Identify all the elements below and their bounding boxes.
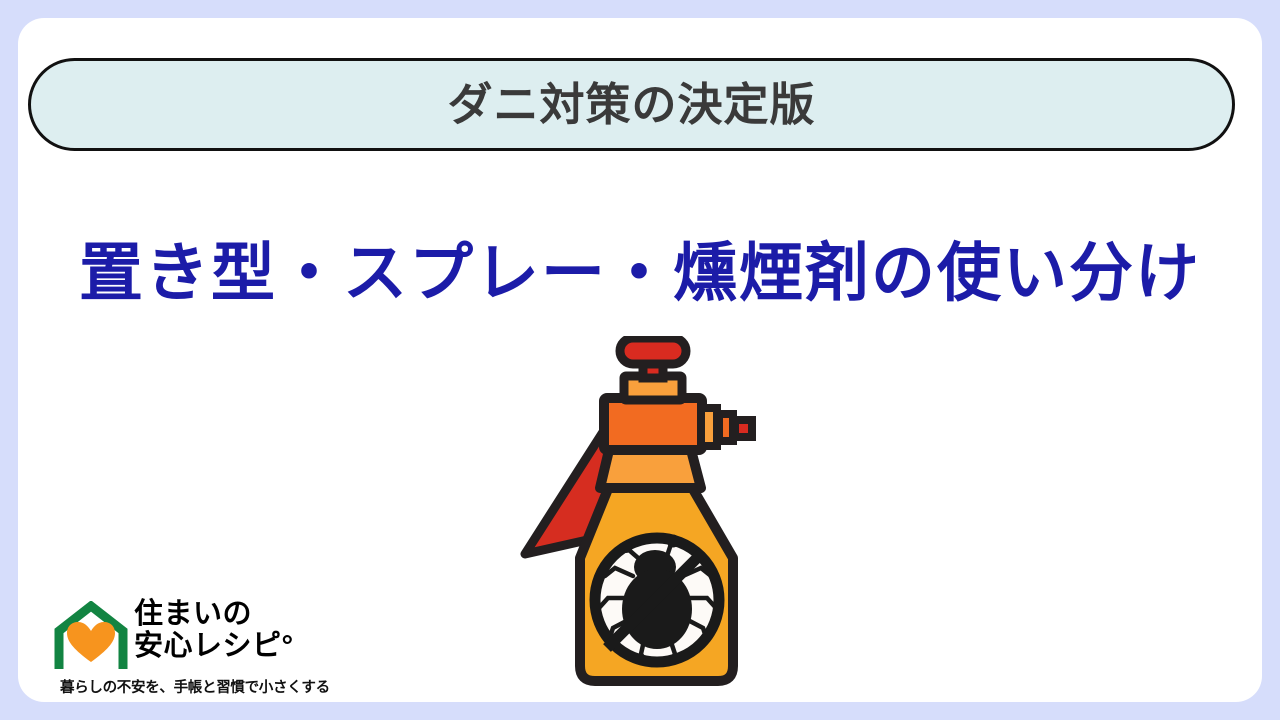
no-mite-emblem-icon: [595, 535, 719, 665]
header-banner-text: ダニ対策の決定版: [447, 82, 815, 127]
house-heart-icon: [53, 601, 129, 673]
header-banner-pill: ダニ対策の決定版: [28, 58, 1235, 151]
sprayer-head-icon: [604, 338, 702, 450]
brand-logo: 住まいの 安心レシピ° 暮らしの不安を、手帳と習慣で小さくする: [48, 596, 328, 696]
brand-name-line2: 安心レシピ°: [134, 630, 324, 662]
sprayer-nozzle-icon: [701, 408, 752, 446]
brand-name-line1: 住まいの: [134, 598, 324, 630]
brand-tagline: 暮らしの不安を、手帳と習慣で小さくする: [60, 676, 328, 697]
brand-wordmark: 住まいの 安心レシピ°: [134, 598, 324, 663]
page-title: 置き型・スプレー・燻煙剤の使い分け: [18, 238, 1262, 308]
slide-card: ダニ対策の決定版 置き型・スプレー・燻煙剤の使い分け: [18, 18, 1262, 702]
pump-sprayer-illustration: [505, 336, 795, 696]
